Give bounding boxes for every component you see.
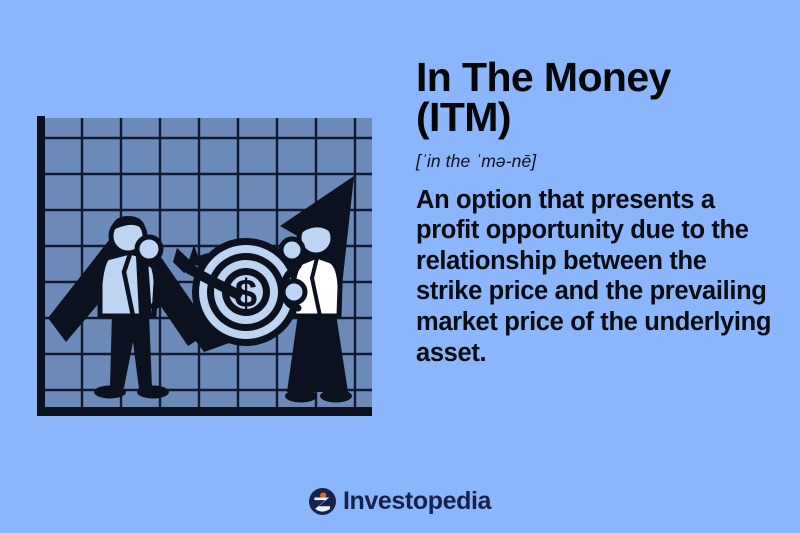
illustration-chart: $	[36, 116, 376, 418]
infographic-card: $	[0, 0, 800, 533]
investopedia-logo-icon	[309, 488, 336, 515]
pronunciation-text: [ˈin the ˈmə-nē]	[416, 151, 776, 172]
definition-text: An option that presents a profit opportu…	[416, 185, 776, 369]
illustration-svg: $	[36, 116, 376, 418]
brand-wordmark: Investopedia	[343, 489, 491, 514]
investor-woman-icon	[281, 215, 352, 403]
brand-lockup: Investopedia	[0, 488, 800, 515]
page-title: In The Money (ITM)	[416, 58, 776, 138]
definition-panel: In The Money (ITM) [ˈin the ˈmə-nē] An o…	[416, 58, 776, 368]
